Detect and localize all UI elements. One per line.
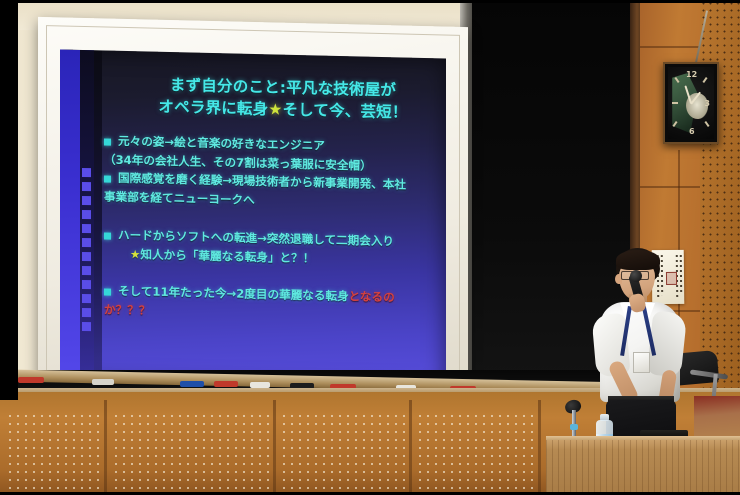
perforated-panel-2 [112,412,270,495]
presentation-slide: まず自分のこと:平凡な技術屋が オペラ界に転身★そして今、芸短！ 元々の姿→絵と… [60,49,446,390]
bullet-marker-icon [104,288,111,295]
slide-title-line-2-head: オペラ界に転身 [158,98,268,119]
bullet-marker-icon [104,176,111,183]
clock-numeral-6: 6 [689,127,695,136]
marker-pen-3 [180,381,204,387]
mic-stand-clip [570,424,578,430]
photo-border-top [0,0,740,3]
marker-pen-4 [214,381,238,387]
slide-content: まず自分のこと:平凡な技術屋が オペラ界に転身★そして今、芸短！ 元々の姿→絵と… [100,50,446,390]
clock-numeral-12: 12 [686,70,697,79]
bullet-3-line-2-text: 知人から「華麗なる転身」と？！ [140,247,314,265]
bullet-marker-icon [104,232,111,239]
marker-pen-2 [92,379,114,385]
slide-band-squares [82,168,93,358]
bullet-4-line-1-red: となるの [349,289,395,304]
microphone-head-icon [630,270,642,282]
star-icon: ★ [130,247,140,261]
right-perforated-panel [700,0,740,400]
slide-title-line-2-tail: そして今、芸短！ [282,101,407,122]
clock-numeral-3: 3 [704,99,710,108]
slide-bullet-list: 元々の姿→絵と音楽の好きなエンジニア （34年の会社人生、その7割は菜っ葉服に安… [104,132,446,326]
bullet-1-text: 元々の姿→絵と音楽の好きなエンジニア [118,133,325,155]
wall-clock: 12 3 6 [663,62,719,144]
presenter-id-badge [633,352,650,373]
star-icon: ★ [268,100,282,118]
marker-pen-1 [18,377,44,383]
bullet-marker-icon [104,138,111,145]
presenter-hair-fringe [616,250,660,270]
lecture-hall-scene: 12 3 6 [0,0,740,495]
bullet-4-line-1-cyan: そして11年たった今→2度目の華麗なる転身 [118,284,349,303]
podium-wood-grain [546,440,740,495]
slide-title: まず自分のこと:平凡な技術屋が オペラ界に転身★そして今、芸短！ [118,73,446,125]
perforated-panel-3 [280,412,406,495]
bullet-1-line-1: 元々の姿→絵と音楽の好きなエンジニア [118,134,325,153]
perforated-panel-1 [6,412,102,495]
perforated-panel-4 [416,412,534,495]
clock-face: 12 3 6 [668,67,714,139]
wooden-podium [546,440,740,495]
projection-screen: まず自分のこと:平凡な技術屋が オペラ界に転身★そして今、芸短！ 元々の姿→絵と… [38,17,468,423]
photo-border-left [0,0,18,400]
